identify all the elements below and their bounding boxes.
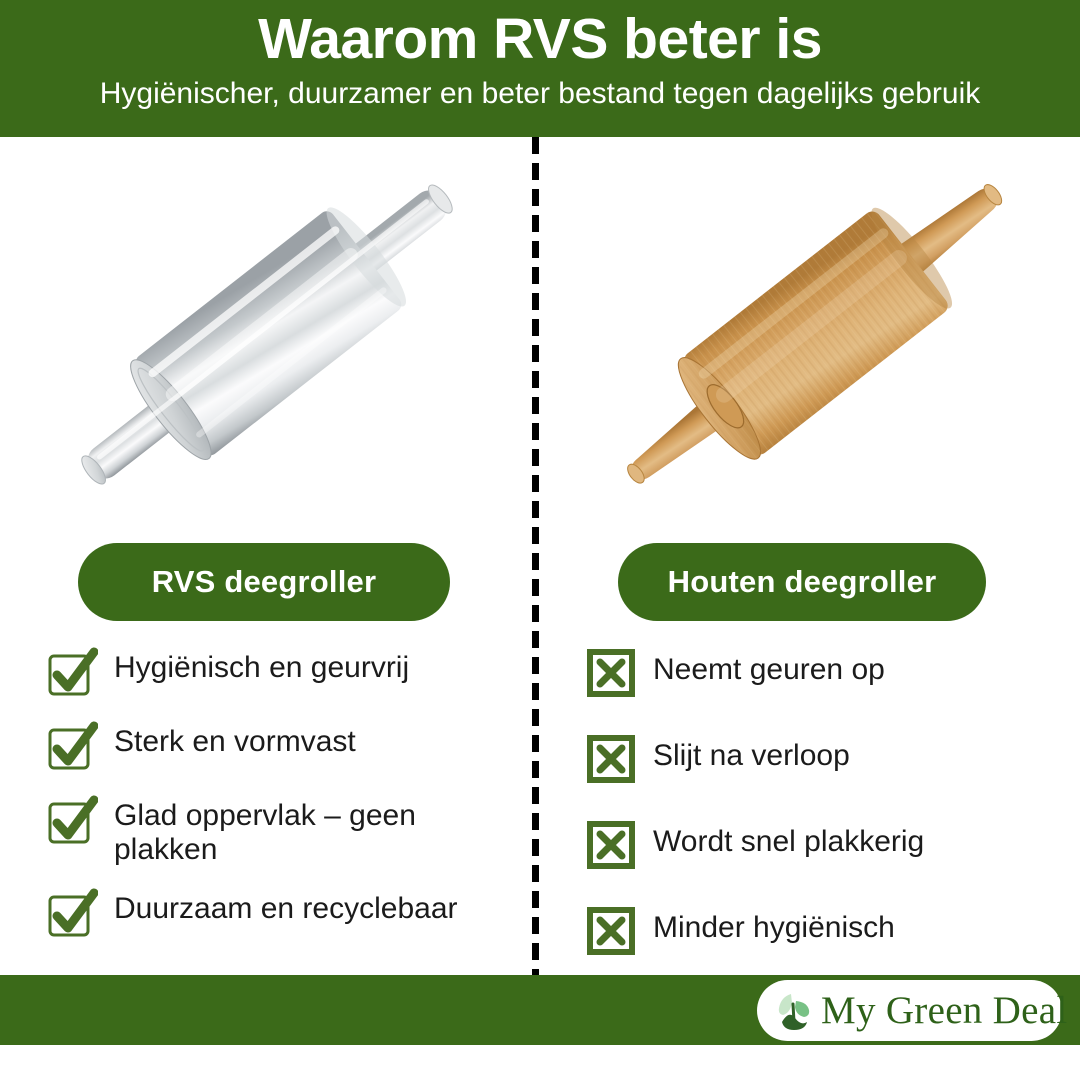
list-item: Glad oppervlak – geen plakken <box>46 793 526 866</box>
badge-houten-deegroller[interactable]: Houten deegroller <box>618 543 986 621</box>
page-subtitle: Hygiënischer, duurzamer en beter bestand… <box>100 77 981 112</box>
check-icon <box>46 647 98 699</box>
check-icon <box>46 888 98 940</box>
list-item: Duurzaam en recyclebaar <box>46 886 526 940</box>
badge-label: RVS deegroller <box>152 564 376 600</box>
bottom-white-margin <box>0 1045 1080 1080</box>
stainless-steel-rolling-pin-icon <box>32 150 502 525</box>
list-item: Wordt snel plakkerig <box>585 817 1065 871</box>
list-item-label: Neemt geuren op <box>653 645 885 687</box>
cross-icon <box>585 647 637 699</box>
brand-logo[interactable]: My Green Deal <box>757 980 1062 1041</box>
comparison-body: RVS deegroller Hygiënisch en geurvrij <box>0 137 1080 975</box>
infographic-page: Waarom RVS beter is Hygiënischer, duurza… <box>0 0 1080 1080</box>
list-item: Minder hygiënisch <box>585 903 1065 957</box>
badge-label: Houten deegroller <box>668 564 937 600</box>
badge-rvs-deegroller[interactable]: RVS deegroller <box>78 543 450 621</box>
brand-logo-text: My Green Deal <box>821 991 1067 1030</box>
check-icon <box>46 795 98 847</box>
list-item-label: Minder hygiënisch <box>653 903 895 945</box>
list-item: Sterk en vormvast <box>46 719 526 773</box>
feature-list-hout: Neemt geuren op Slijt na verloop <box>585 645 1065 989</box>
column-rvs: RVS deegroller Hygiënisch en geurvrij <box>0 137 533 975</box>
column-hout: Houten deegroller Neemt geuren op <box>547 137 1080 975</box>
list-item: Neemt geuren op <box>585 645 1065 699</box>
column-divider <box>532 137 539 975</box>
header-banner: Waarom RVS beter is Hygiënischer, duurza… <box>0 0 1080 137</box>
footer-bar: My Green Deal <box>0 975 1080 1045</box>
list-item: Slijt na verloop <box>585 731 1065 785</box>
feature-list-rvs: Hygiënisch en geurvrij Sterk en vormvast <box>46 645 526 960</box>
page-title: Waarom RVS beter is <box>258 8 822 71</box>
list-item-label: Glad oppervlak – geen plakken <box>114 793 514 866</box>
cross-icon <box>585 819 637 871</box>
list-item-label: Hygiënisch en geurvrij <box>114 645 409 685</box>
cross-icon <box>585 733 637 785</box>
check-icon <box>46 721 98 773</box>
sprout-leaf-icon <box>771 988 817 1034</box>
wooden-rolling-pin-icon <box>589 150 1039 525</box>
product-image-rvs <box>0 137 533 537</box>
cross-icon <box>585 905 637 957</box>
list-item-label: Wordt snel plakkerig <box>653 817 924 859</box>
list-item-label: Sterk en vormvast <box>114 719 356 759</box>
product-image-hout <box>547 137 1080 537</box>
list-item-label: Slijt na verloop <box>653 731 850 773</box>
list-item: Hygiënisch en geurvrij <box>46 645 526 699</box>
list-item-label: Duurzaam en recyclebaar <box>114 886 458 926</box>
